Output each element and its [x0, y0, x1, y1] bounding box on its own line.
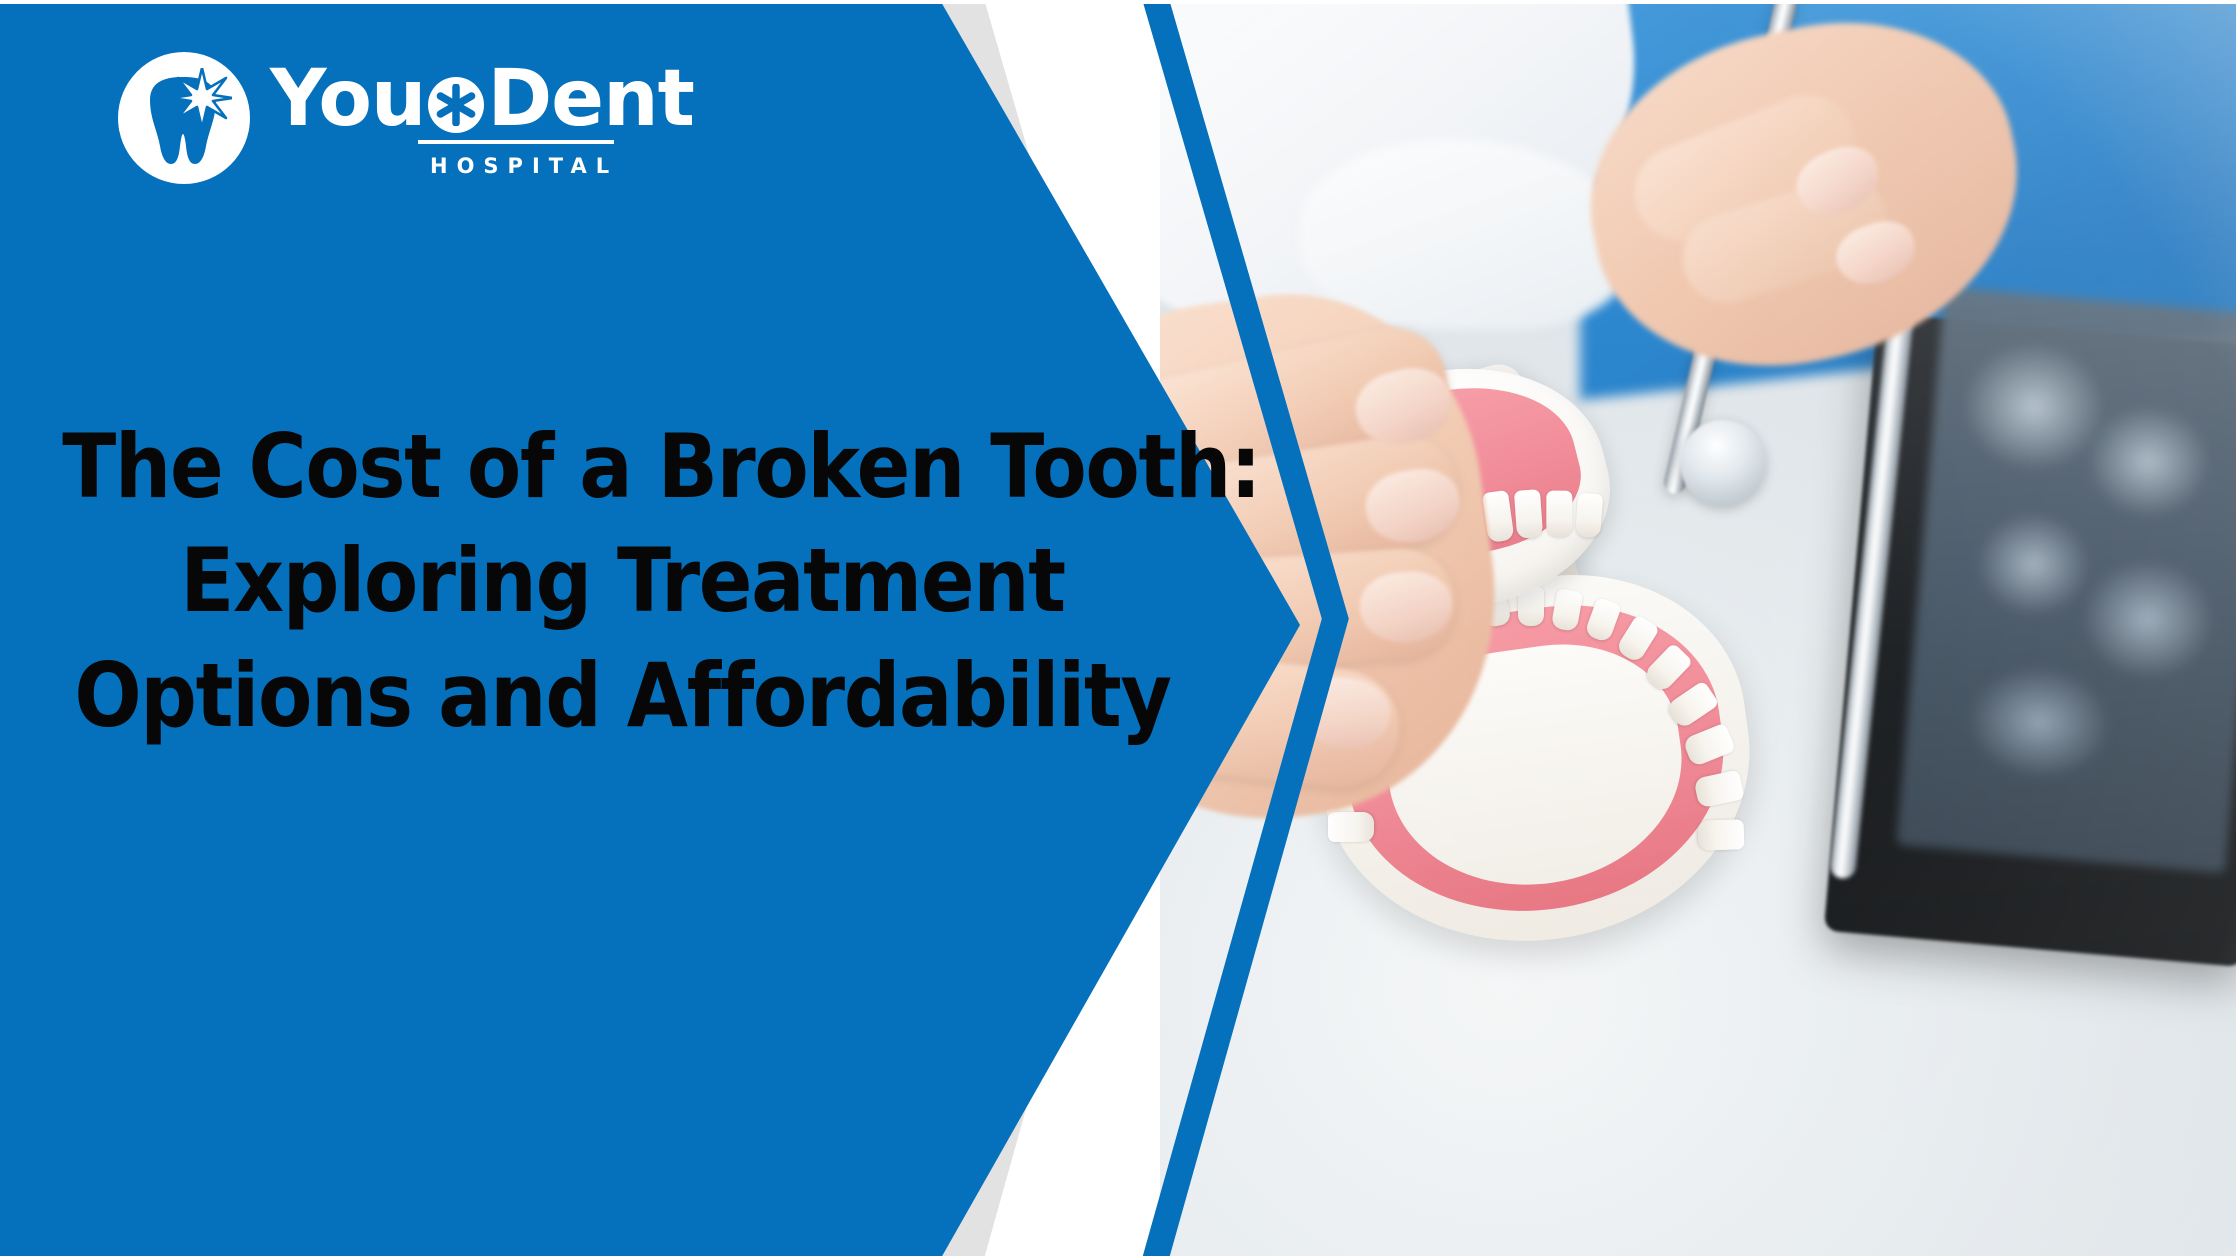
asterisk-o-icon: [428, 77, 484, 133]
logo-word-you: You: [270, 62, 425, 137]
x-ray-film: [1896, 287, 2240, 874]
page-title: The Cost of a Broken Tooth: Exploring Tr…: [62, 410, 1183, 753]
logo-word-dent: Dent: [487, 62, 693, 137]
headline-line-3: Options and Affordability: [62, 639, 1183, 753]
headline-line-1: The Cost of a Broken Tooth:: [62, 410, 1183, 524]
youdent-logo[interactable]: You Dent HOSPITAL: [118, 52, 694, 184]
logo-wordmark: You Dent: [270, 62, 694, 137]
tooth-with-sparkle-icon: [118, 52, 250, 184]
frame-edge-bottom: [0, 1256, 2240, 1260]
logo-subtitle: HOSPITAL: [430, 154, 694, 178]
frame-edge-top: [0, 0, 2240, 4]
headline-line-2: Exploring Treatment: [62, 524, 1183, 638]
frame-edge-right: [2236, 0, 2240, 1260]
blog-banner: You Dent HOSPITAL The Cost of a Broken T…: [0, 0, 2240, 1260]
